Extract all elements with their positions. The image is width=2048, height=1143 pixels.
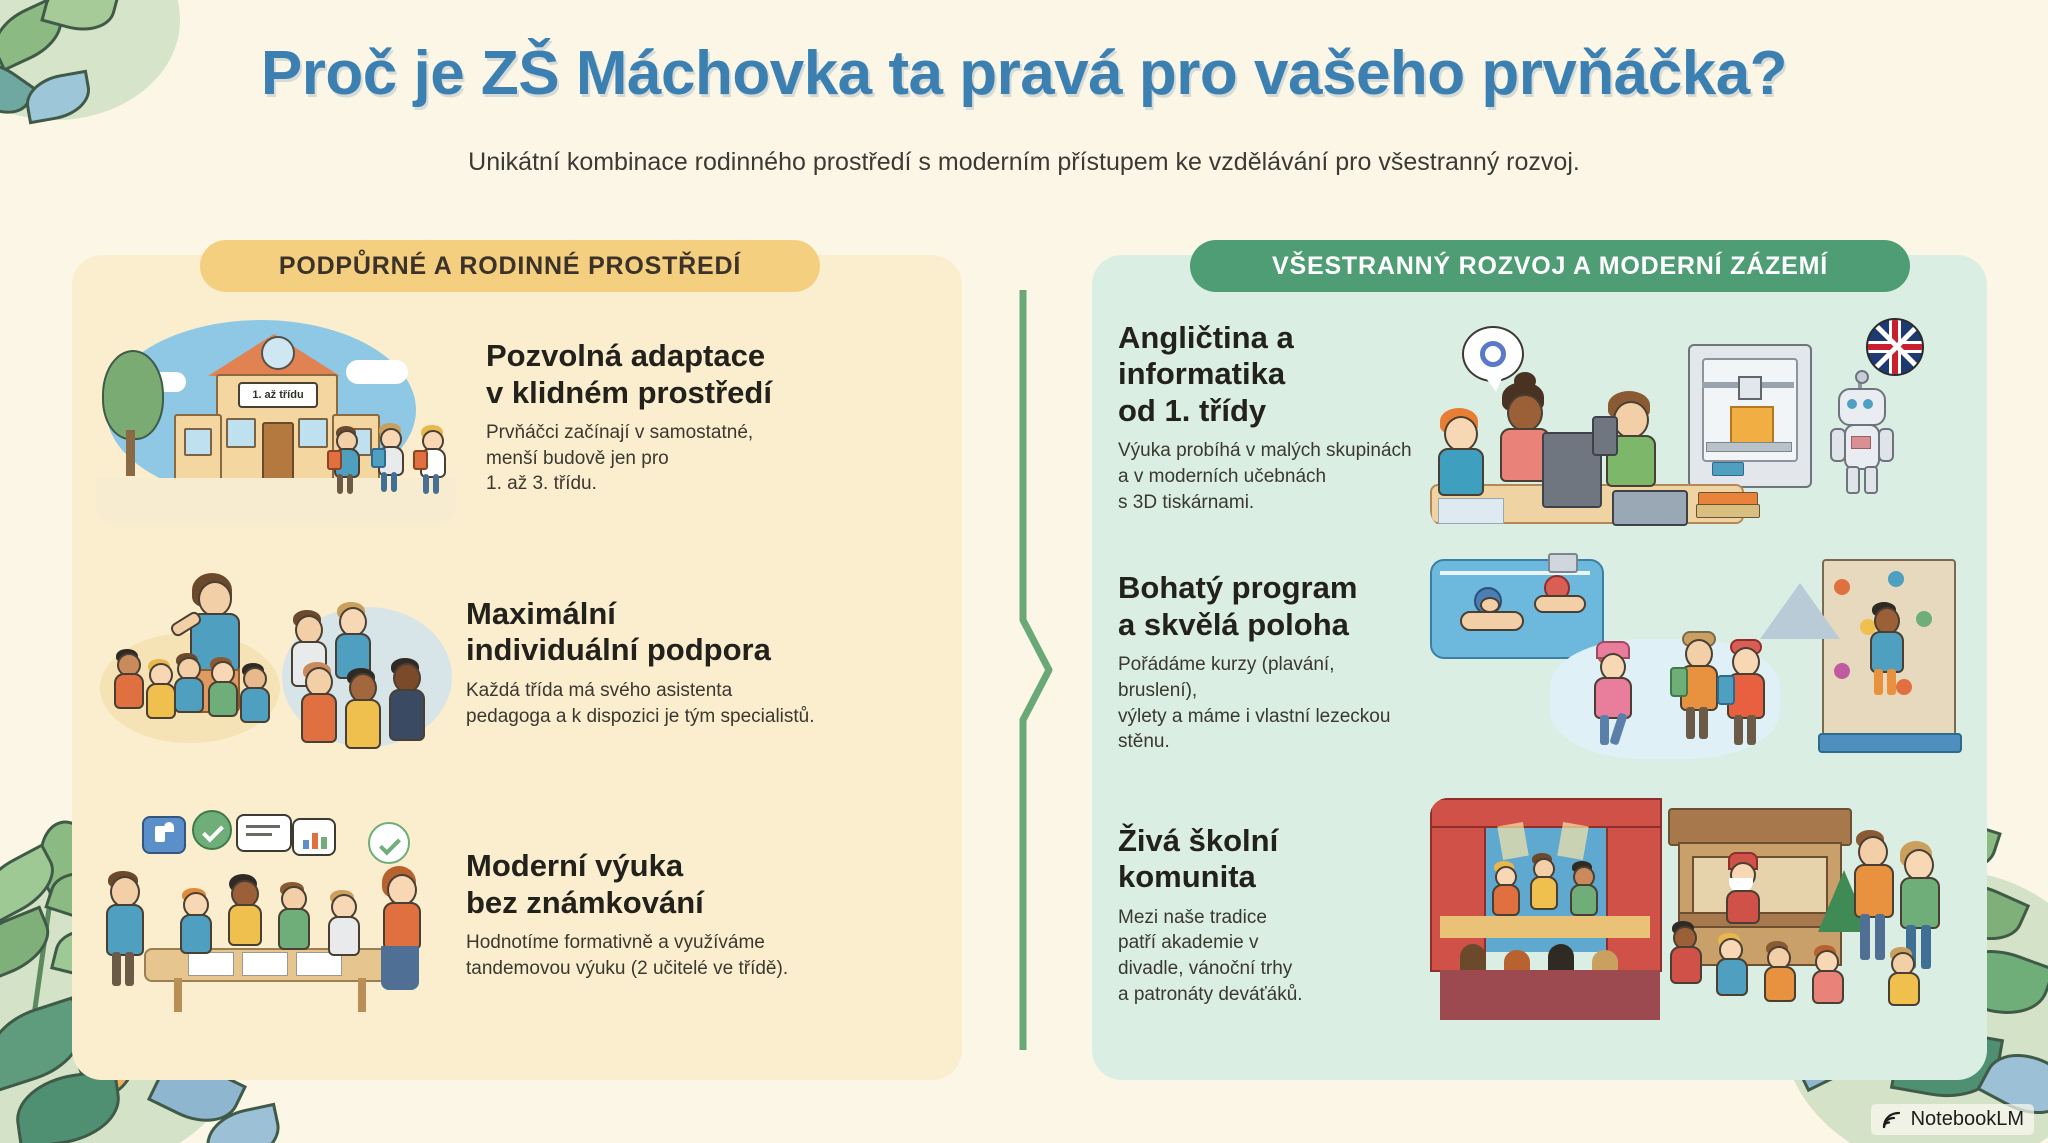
illustration-group-work-feedback [96, 808, 456, 1023]
approved-icon [368, 822, 410, 864]
illustration-english-informatics [1430, 308, 1970, 528]
notebooklm-watermark: NotebookLM [1871, 1104, 2034, 1135]
feature-row-community: Živá školní komunita Mezi naše tradice p… [1118, 790, 1988, 1040]
thumbs-up-icon [142, 816, 186, 854]
message-icon [236, 814, 292, 852]
check-badge-icon [192, 810, 232, 850]
feature-body: Každá třída má svého asistenta pedagoga … [466, 678, 916, 729]
section-divider-arrow [1005, 290, 1065, 1050]
notebooklm-label: NotebookLM [1911, 1108, 2024, 1131]
feature-text-individual-support: Maximální individuální podpora Každá tří… [466, 596, 916, 729]
page-title: Proč je ZŠ Máchovka ta pravá pro vašeho … [0, 38, 2048, 109]
gear-icon [1480, 341, 1506, 367]
feature-row-program-location: Bohatý program a skvělá poloha Pořádáme … [1118, 545, 1988, 780]
illustration-theatre-and-christmas-market [1430, 798, 1970, 1033]
feature-body: Prvňáčci začínají v samostatné, menší bu… [486, 420, 916, 497]
feature-heading: Bohatý program a skvělá poloha [1118, 570, 1418, 643]
feature-body: Mezi naše tradice patří akademie v divad… [1118, 905, 1418, 1008]
feature-text-program-location: Bohatý program a skvělá poloha Pořádáme … [1118, 570, 1418, 755]
illustration-school-building: 1. až třídu [96, 310, 456, 525]
section-header-right: VŠESTRANNÝ ROZVOJ A MODERNÍ ZÁZEMÍ [1190, 240, 1910, 292]
feature-heading: Maximální individuální podpora [466, 596, 916, 669]
feature-row-modern-teaching: Moderní výuka bez známkování Hodnotíme f… [96, 790, 946, 1040]
feature-body: Výuka probíhá v malých skupinách a v mod… [1118, 438, 1418, 515]
feature-body: Pořádáme kurzy (plavání, bruslení), výle… [1118, 652, 1418, 755]
feature-text-community: Živá školní komunita Mezi naše tradice p… [1118, 823, 1418, 1008]
infographic-canvas: Proč je ZŠ Máchovka ta pravá pro vašeho … [0, 0, 2048, 1143]
feature-text-adaptation: Pozvolná adaptace v klidném prostředí Pr… [486, 338, 916, 497]
feature-heading: Moderní výuka bez známkování [466, 848, 916, 921]
page-subtitle: Unikátní kombinace rodinného prostředí s… [0, 148, 2048, 177]
uk-flag-icon [1866, 318, 1924, 376]
feature-text-english-it: Angličtina a informatika od 1. třídy Výu… [1118, 320, 1418, 516]
gear-speech-bubble-icon [1462, 326, 1524, 382]
feature-text-modern-teaching: Moderní výuka bez známkování Hodnotíme f… [466, 848, 916, 981]
chart-icon [292, 818, 336, 856]
illustration-sports-activities [1430, 553, 1970, 773]
school-sign-label: 1. až třídu [238, 382, 318, 408]
feature-body: Hodnotíme formativně a využíváme tandemo… [466, 930, 916, 981]
feature-heading: Pozvolná adaptace v klidném prostředí [486, 338, 916, 411]
feature-row-adaptation: 1. až třídu [96, 300, 946, 535]
notebooklm-logo-icon [1881, 1110, 1903, 1130]
illustration-teacher-and-specialists [96, 555, 456, 770]
feature-heading: Živá školní komunita [1118, 823, 1418, 896]
feature-heading: Angličtina a informatika od 1. třídy [1118, 320, 1418, 430]
section-header-left: PODPŮRNÉ A RODINNÉ PROSTŘEDÍ [200, 240, 820, 292]
feature-row-english-it: Angličtina a informatika od 1. třídy Výu… [1118, 300, 1988, 535]
feature-row-individual-support: Maximální individuální podpora Každá tří… [96, 545, 946, 780]
